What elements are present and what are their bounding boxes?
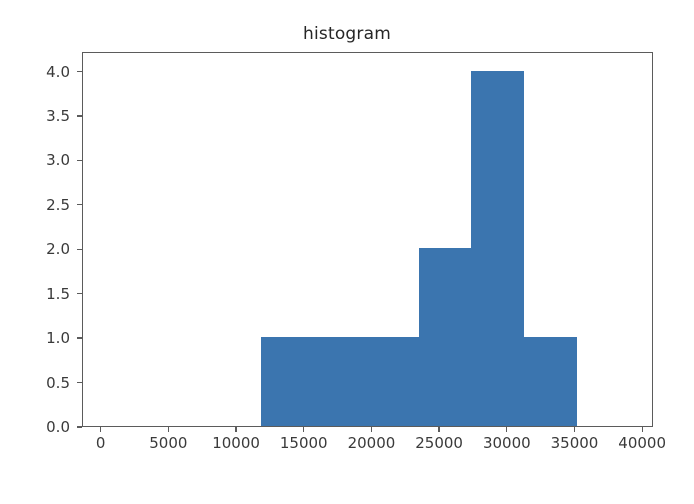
x-tick-label: 0 (96, 434, 106, 452)
x-tick-mark (168, 427, 169, 432)
histogram-bar (366, 337, 419, 426)
x-tick-label: 30000 (483, 434, 531, 452)
y-tick-label: 3.5 (10, 107, 70, 125)
y-tick-label: 3.0 (10, 151, 70, 169)
x-tick-mark (642, 427, 643, 432)
x-tick-label: 25000 (415, 434, 463, 452)
matplotlib-figure: histogram 0.00.51.01.52.02.53.03.54.0 05… (0, 0, 694, 504)
x-tick-label: 10000 (212, 434, 260, 452)
y-tick-label: 1.5 (10, 285, 70, 303)
chart-title: histogram (0, 24, 694, 44)
histogram-bar (419, 248, 472, 426)
histogram-bar (471, 71, 524, 426)
histogram-bar (524, 337, 577, 426)
y-tick-label: 0.0 (10, 418, 70, 436)
x-tick-mark (574, 427, 575, 432)
x-tick-mark (438, 427, 439, 432)
histogram-bar (313, 337, 366, 426)
y-tick-label: 2.5 (10, 196, 70, 214)
x-tick-mark (303, 427, 304, 432)
x-tick-mark (506, 427, 507, 432)
x-tick-mark (235, 427, 236, 432)
x-tick-label: 35000 (551, 434, 599, 452)
x-tick-mark (371, 427, 372, 432)
y-tick-label: 1.0 (10, 329, 70, 347)
y-tick-label: 4.0 (10, 63, 70, 81)
x-tick-mark (100, 427, 101, 432)
x-tick-label: 20000 (348, 434, 396, 452)
histogram-bars (83, 53, 652, 426)
y-tick-label: 2.0 (10, 240, 70, 258)
histogram-bar (261, 337, 314, 426)
y-tick-label: 0.5 (10, 374, 70, 392)
x-tick-label: 40000 (618, 434, 666, 452)
x-tick-label: 15000 (280, 434, 328, 452)
plot-area (82, 52, 653, 427)
x-tick-label: 5000 (149, 434, 187, 452)
